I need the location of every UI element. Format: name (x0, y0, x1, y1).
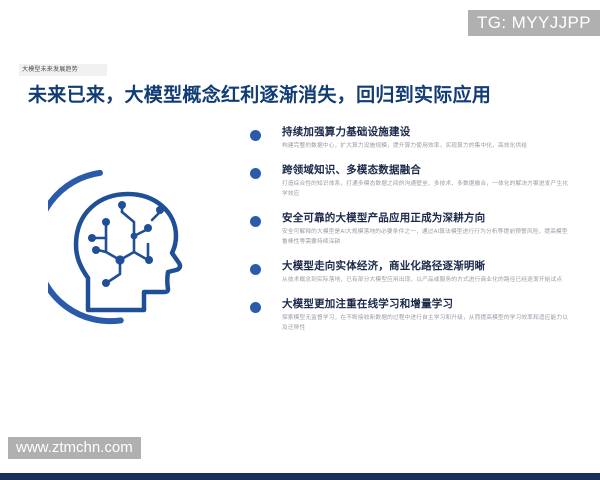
ai-head-circuit-illustration (48, 150, 233, 335)
list-item-heading: 大模型更加注重在线学习和增量学习 (282, 298, 578, 311)
list-item: 安全可靠的大模型产品应用正成为深耕方向 安全可解释的大模型是AI大规模落地的必要… (248, 212, 578, 248)
bullet-dot-icon (250, 216, 261, 227)
page-title: 未来已来，大模型概念红利逐渐消失，回归到实际应用 (28, 80, 491, 107)
list-item-description: 打造综合性的知识体系，打通多模态数据之间的沟通壁垒、多技术、多数据融合，一体化的… (282, 180, 572, 200)
list-item-description: 构建完整的数据中心，扩大算力设施规模，提升算力使用效率，实现算力的集中化、高效化… (282, 142, 572, 152)
bottom-accent-bar (0, 473, 600, 480)
list-item-description: 安全可解释的大模型是AI大规模落地的必要条件之一，通过AI算法模型进行行为分析等… (282, 228, 572, 248)
list-item-heading: 大模型走向实体经济，商业化路径逐渐明晰 (282, 260, 578, 273)
bullet-dot-icon (250, 302, 261, 313)
bullet-dot-icon (250, 168, 261, 179)
list-item-heading: 安全可靠的大模型产品应用正成为深耕方向 (282, 212, 578, 225)
trends-bullet-list: 持续加强算力基础设施建设 构建完整的数据中心，扩大算力设施规模，提升算力使用效率… (248, 126, 578, 334)
slide-canvas: TG: MYYJJPP 大模型未来发展趋势 未来已来，大模型概念红利逐渐消失，回… (0, 0, 600, 480)
telegram-watermark: TG: MYYJJPP (468, 10, 600, 36)
list-item-heading: 持续加强算力基础设施建设 (282, 126, 578, 139)
bullet-dot-icon (250, 264, 261, 275)
list-item: 持续加强算力基础设施建设 构建完整的数据中心，扩大算力设施规模，提升算力使用效率… (248, 126, 578, 152)
bullet-dot-icon (250, 130, 261, 141)
list-item: 大模型更加注重在线学习和增量学习 探索模型无监督学习，在不断接收新数据的过程中进… (248, 298, 578, 334)
list-item-description: 从技术概念到实际落地，已有部分大模型应用出现，以产品或服务的方式进行商业化的路径… (282, 276, 572, 286)
list-item: 大模型走向实体经济，商业化路径逐渐明晰 从技术概念到实际落地，已有部分大模型应用… (248, 260, 578, 286)
list-item-description: 探索模型无监督学习，在不断接收新数据的过程中进行自主学习和升级，从而提高模型的学… (282, 314, 572, 334)
site-watermark: www.ztmchn.com (8, 437, 141, 459)
list-item-heading: 跨领域知识、多模态数据融合 (282, 164, 578, 177)
section-kicker-label: 大模型未来发展趋势 (19, 64, 107, 76)
list-item: 跨领域知识、多模态数据融合 打造综合性的知识体系，打通多模态数据之间的沟通壁垒、… (248, 164, 578, 200)
